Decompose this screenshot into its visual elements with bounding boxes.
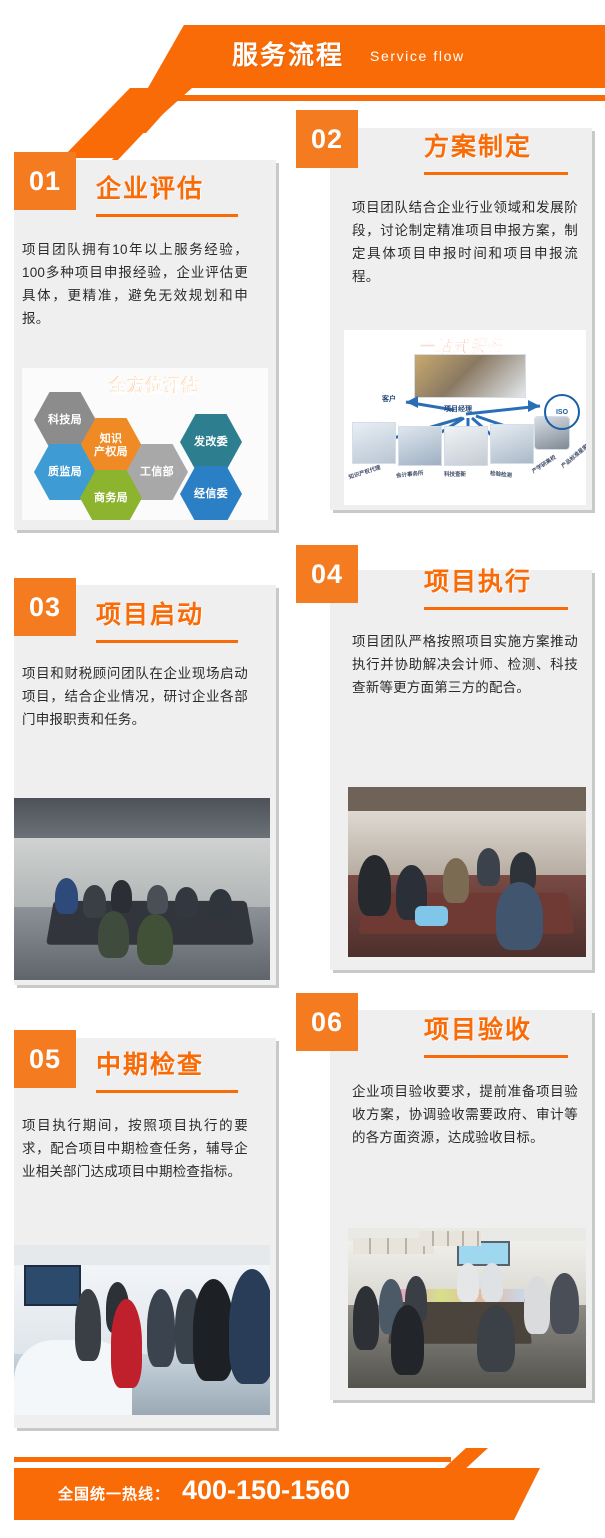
- page-subtitle: Service flow: [370, 44, 465, 68]
- page-header: 服务流程 Service flow: [0, 0, 605, 112]
- step-badge-05: 05: [14, 1030, 76, 1088]
- service-flow-poster: 服务流程 Service flow 01 企业评估 项目团队拥有10年以上服务经…: [0, 0, 605, 1538]
- step-badge-02: 02: [296, 110, 358, 168]
- step-title-06: 项目验收: [424, 1013, 532, 1047]
- step-body-02: 项目团队结合企业行业领域和发展阶段，讨论制定精准项目申报方案，制定具体项目申报时…: [352, 196, 578, 288]
- service-thumb-inspection: [490, 424, 534, 464]
- title-rule-06: [424, 1055, 568, 1058]
- step-title-04: 项目执行: [424, 565, 532, 599]
- iso-seal-icon: ISO: [544, 394, 580, 430]
- header-underline-bar: [172, 95, 605, 101]
- hexagon-chart: 全方位评估 科技局 知识 产权局 发改委 质监局 工信部 商务局 经信委: [22, 368, 268, 520]
- step-badge-01: 01: [14, 152, 76, 210]
- one-stop-service-diagram: 一站式服务 客户 项目经理: [344, 330, 586, 505]
- step-title-05: 中期检查: [96, 1048, 204, 1082]
- hex-node-fagaiwei: 发改委: [180, 414, 242, 470]
- service-thumb-ip: [352, 422, 396, 464]
- hex-node-jingxinwei: 经信委: [180, 466, 242, 520]
- step-title-02: 方案制定: [424, 130, 532, 164]
- hotline-number[interactable]: 400-150-1560: [182, 1475, 350, 1506]
- title-rule-02: [424, 172, 568, 175]
- step-badge-06: 06: [296, 993, 358, 1051]
- footer-accent-line: [14, 1457, 451, 1462]
- title-rule-01: [96, 214, 238, 217]
- footer-bar-slant: [462, 1468, 540, 1520]
- step-body-06: 企业项目验收要求，提前准备项目验收方案，协调验收需要政府、审计等的各方面资源，达…: [352, 1080, 578, 1149]
- acceptance-meeting-photo: [348, 1228, 586, 1388]
- step-title-01: 企业评估: [96, 172, 204, 206]
- title-rule-03: [96, 640, 238, 643]
- service-foot-search: 科技查新: [444, 470, 466, 478]
- service-thumb-accounting: [398, 426, 442, 466]
- site-visit-photo: [14, 1245, 270, 1415]
- step-body-01: 项目团队拥有10年以上服务经验，100多种项目申报经验，企业评估更具体，更精准，…: [22, 238, 248, 330]
- service-label-project-manager: 项目经理: [444, 404, 472, 414]
- step-title-03: 项目启动: [96, 598, 204, 632]
- meeting-room-photo: [14, 798, 270, 980]
- step-badge-04: 04: [296, 545, 358, 603]
- step-body-04: 项目团队严格按照项目实施方案推动执行并协助解决会计师、检测、科技查新等更方面第三…: [352, 630, 578, 699]
- conference-working-photo: [348, 787, 586, 957]
- step-body-05: 项目执行期间，按照项目执行的要求，配合项目中期检查任务，辅导企业相关部门达成项目…: [22, 1114, 248, 1183]
- step-body-03: 项目和财税顾问团队在企业现场启动项目，结合企业情况，研讨企业各部门申报职责和任务…: [22, 662, 248, 731]
- service-thumb-novelty-search: [444, 426, 488, 466]
- hexagon-chart-title: 全方位评估: [110, 372, 200, 397]
- hotline-label: 全国统一热线：: [58, 1483, 170, 1504]
- title-rule-05: [96, 1090, 238, 1093]
- page-title: 服务流程: [232, 35, 344, 75]
- title-rule-04: [424, 607, 568, 610]
- service-label-customer: 客户: [382, 394, 396, 404]
- step-badge-03: 03: [14, 578, 76, 636]
